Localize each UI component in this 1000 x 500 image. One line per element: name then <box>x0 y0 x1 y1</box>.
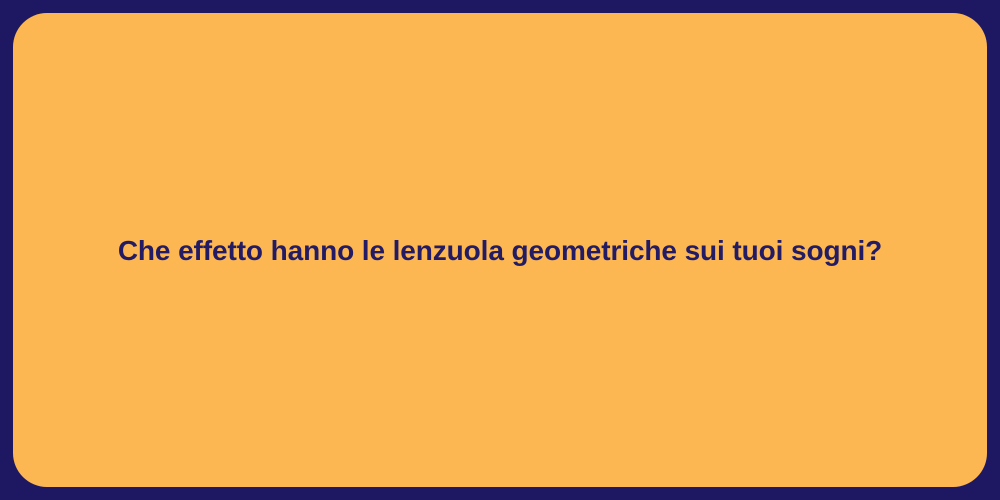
headline-text: Che effetto hanno le lenzuola geometrich… <box>94 233 906 268</box>
card-outer-frame: Che effetto hanno le lenzuola geometrich… <box>0 0 1000 500</box>
card-inner-panel: Che effetto hanno le lenzuola geometrich… <box>13 13 987 487</box>
